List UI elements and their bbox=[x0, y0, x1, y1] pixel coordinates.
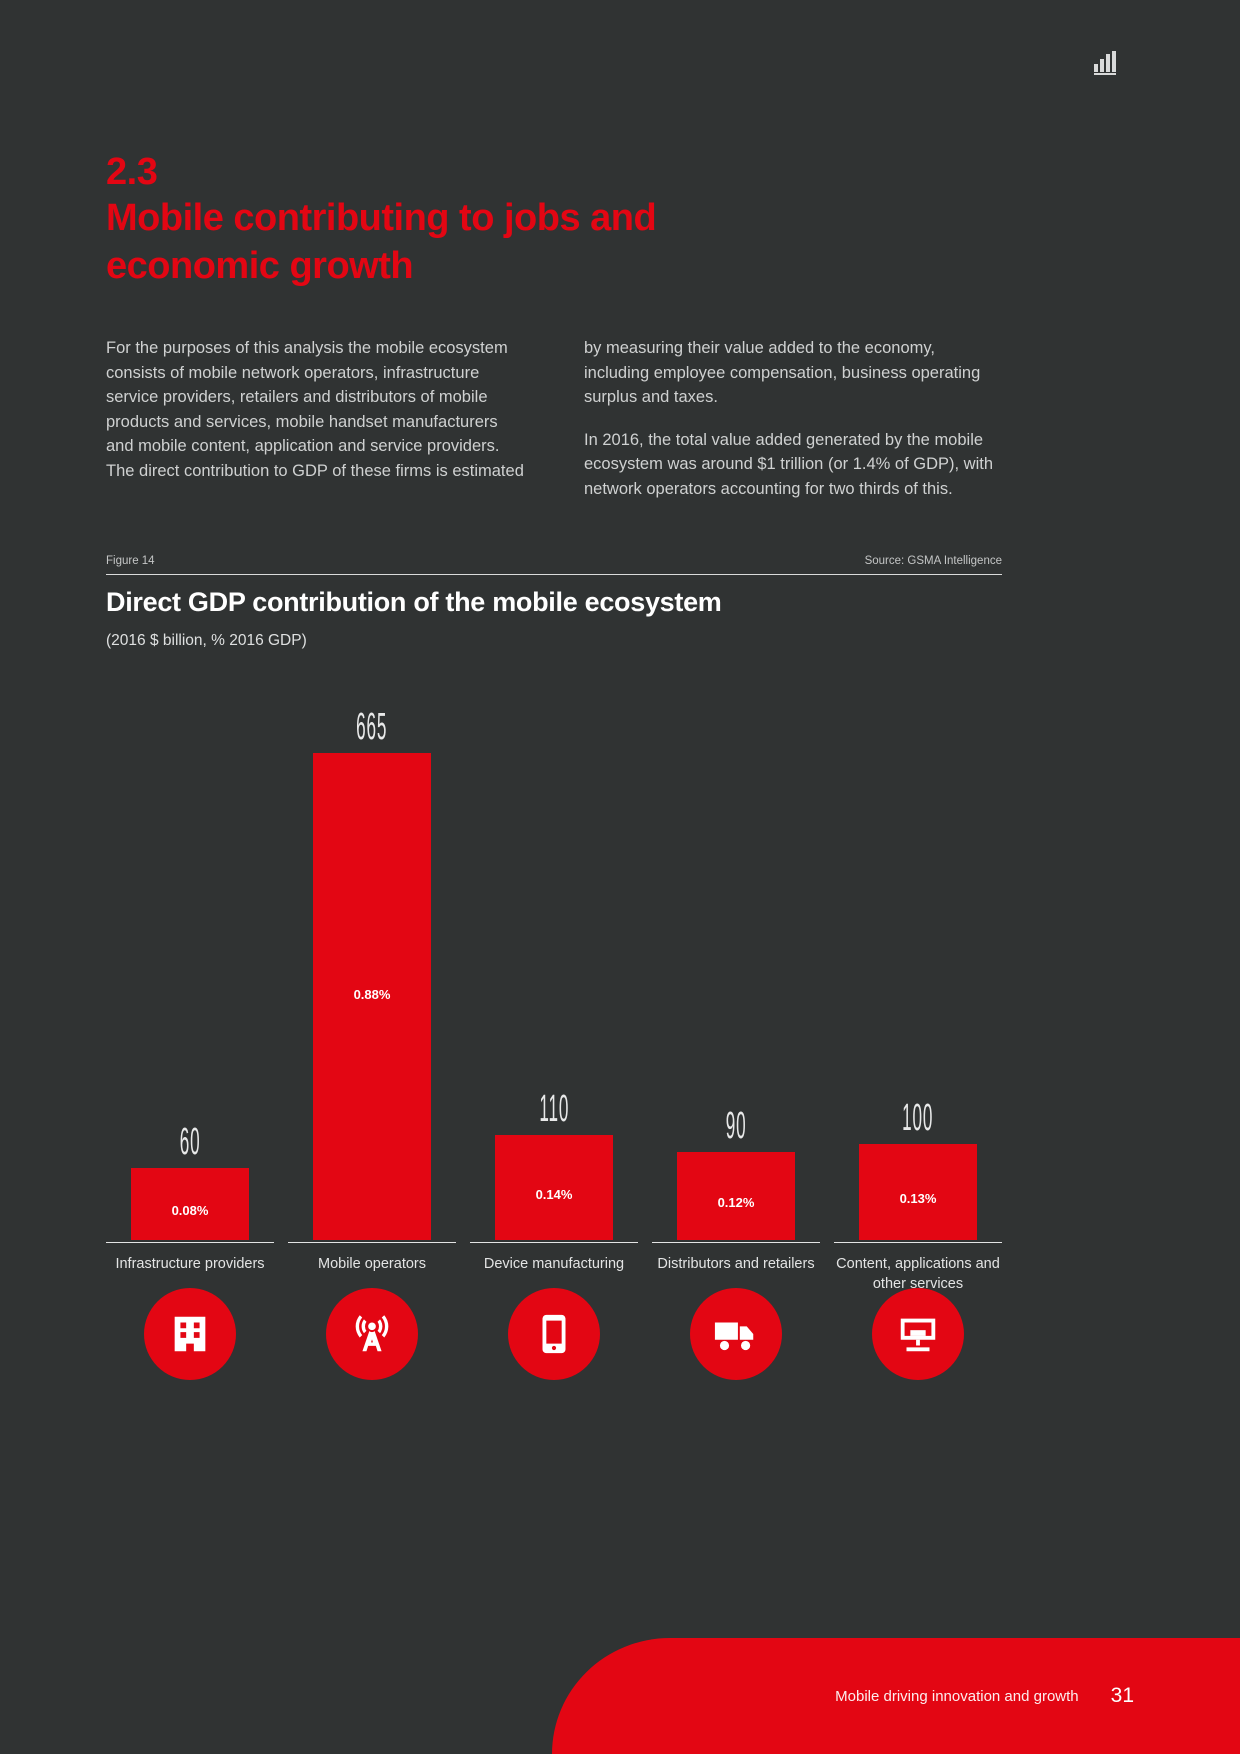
category-label: Device manufacturing bbox=[470, 1242, 638, 1294]
figure-title: Direct GDP contribution of the mobile ec… bbox=[106, 587, 722, 618]
chart-bar[interactable]: 0.88% bbox=[313, 753, 431, 1240]
bar-column: 665 0.88% bbox=[288, 680, 456, 1240]
intro-paragraph: In 2016, the total value added generated… bbox=[584, 428, 1002, 502]
bar-percent-label: 0.12% bbox=[718, 1195, 755, 1210]
intro-body: For the purposes of this analysis the mo… bbox=[106, 336, 1002, 501]
intro-paragraph: For the purposes of this analysis the mo… bbox=[106, 336, 524, 483]
bar-percent-label: 0.08% bbox=[172, 1203, 209, 1218]
page-number: 31 bbox=[1111, 1684, 1134, 1708]
figure-source: Source: GSMA Intelligence bbox=[865, 555, 1002, 567]
intro-paragraph: by measuring their value added to the ec… bbox=[584, 336, 1002, 410]
bar-percent-label: 0.88% bbox=[354, 987, 391, 1002]
bar-column: 110 0.14% bbox=[470, 680, 638, 1240]
report-page: 2.3 Mobile contributing to jobs and econ… bbox=[0, 0, 1240, 1754]
page-footer: Mobile driving innovation and growth 31 bbox=[552, 1638, 1240, 1754]
gsma-logo-icon bbox=[1092, 50, 1118, 76]
building-icon bbox=[144, 1288, 236, 1380]
delivery-truck-icon bbox=[690, 1288, 782, 1380]
bar-chart: 60 0.08% 665 0.88% 110 0.14% 90 0.12% 10… bbox=[106, 680, 1002, 1240]
chart-bar[interactable]: 0.14% bbox=[495, 1135, 613, 1240]
icon-cell bbox=[834, 1288, 1002, 1380]
category-label: Distributors and retailers bbox=[652, 1242, 820, 1294]
bar-value-label: 665 bbox=[356, 707, 387, 747]
category-label: Content, applications and other services bbox=[834, 1242, 1002, 1294]
intro-column-left: For the purposes of this analysis the mo… bbox=[106, 336, 524, 501]
bar-percent-label: 0.14% bbox=[536, 1187, 573, 1202]
figure-label: Figure 14 bbox=[106, 555, 155, 567]
chart-bar[interactable]: 0.08% bbox=[131, 1168, 249, 1240]
chart-category-labels: Infrastructure providers Mobile operator… bbox=[106, 1242, 1002, 1294]
figure-subtitle: (2016 $ billion, % 2016 GDP) bbox=[106, 632, 307, 650]
icon-cell bbox=[652, 1288, 820, 1380]
icon-cell bbox=[288, 1288, 456, 1380]
desktop-monitor-icon bbox=[872, 1288, 964, 1380]
category-label: Infrastructure providers bbox=[106, 1242, 274, 1294]
bar-value-label: 90 bbox=[726, 1106, 747, 1146]
bar-percent-label: 0.13% bbox=[900, 1191, 937, 1206]
bar-column: 60 0.08% bbox=[106, 680, 274, 1240]
footer-label: Mobile driving innovation and growth bbox=[835, 1688, 1078, 1705]
figure-meta: Figure 14 Source: GSMA Intelligence bbox=[106, 555, 1002, 575]
cell-tower-icon bbox=[326, 1288, 418, 1380]
icon-cell bbox=[470, 1288, 638, 1380]
intro-column-right: by measuring their value added to the ec… bbox=[584, 336, 1002, 501]
chart-bar[interactable]: 0.13% bbox=[859, 1144, 977, 1240]
bar-value-label: 100 bbox=[902, 1098, 933, 1138]
bar-value-label: 60 bbox=[180, 1122, 201, 1162]
category-label: Mobile operators bbox=[288, 1242, 456, 1294]
bar-column: 90 0.12% bbox=[652, 680, 820, 1240]
icon-cell bbox=[106, 1288, 274, 1380]
page-title: Mobile contributing to jobs and economic… bbox=[106, 194, 766, 290]
bar-column: 100 0.13% bbox=[834, 680, 1002, 1240]
smartphone-icon bbox=[508, 1288, 600, 1380]
bar-value-label: 110 bbox=[539, 1089, 569, 1129]
chart-bar[interactable]: 0.12% bbox=[677, 1152, 795, 1240]
section-number: 2.3 bbox=[106, 150, 806, 194]
section-heading: 2.3 Mobile contributing to jobs and econ… bbox=[106, 150, 806, 290]
category-icons-row bbox=[106, 1288, 1002, 1380]
